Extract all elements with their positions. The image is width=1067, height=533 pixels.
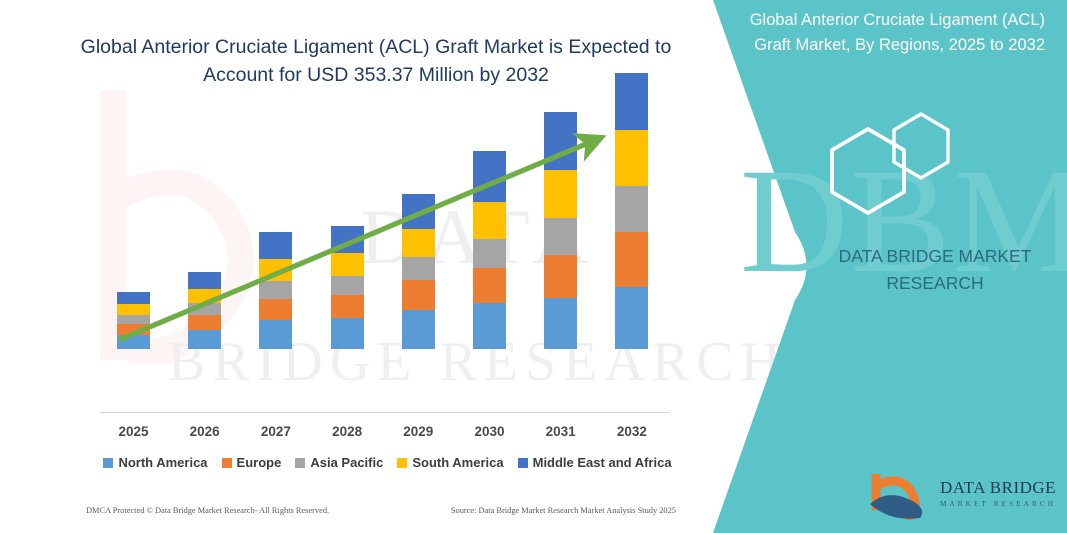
- bar-segment-south-america: [544, 170, 577, 218]
- bar-2031: [544, 112, 577, 349]
- panel-brand: DATA BRIDGE MARKET RESEARCH: [790, 243, 1067, 297]
- bar-segment-middle-east-and-africa: [259, 232, 292, 259]
- x-label-2027: 2027: [241, 424, 311, 439]
- footer-copyright: DMCA Protected © Data Bridge Market Rese…: [86, 506, 329, 515]
- bar-segment-north-america: [402, 310, 435, 349]
- bar-segment-south-america: [331, 253, 364, 276]
- bar-segment-europe: [473, 268, 506, 303]
- bar-segment-south-america: [473, 202, 506, 239]
- page-title: Global Anterior Cruciate Ligament (ACL) …: [76, 33, 676, 89]
- legend-swatch-icon: [222, 458, 232, 468]
- bar-2027: [259, 232, 292, 349]
- bar-segment-north-america: [117, 335, 150, 349]
- logo-name: DATA BRIDGE: [940, 478, 1056, 498]
- bar-segment-middle-east-and-africa: [544, 112, 577, 170]
- legend-label: Asia Pacific: [310, 455, 383, 470]
- x-label-2025: 2025: [99, 424, 169, 439]
- bar-segment-europe: [615, 232, 648, 287]
- bar-2026: [188, 272, 221, 349]
- bar-segment-middle-east-and-africa: [188, 272, 221, 289]
- footer-source: Source: Data Bridge Market Research Mark…: [451, 506, 676, 515]
- legend-swatch-icon: [397, 458, 407, 468]
- bar-2028: [331, 226, 364, 349]
- hexagon-pair-icon: [820, 108, 1010, 218]
- legend-item-north-america[interactable]: North America: [103, 455, 207, 470]
- bar-segment-asia-pacific: [402, 257, 435, 280]
- bar-segment-europe: [402, 280, 435, 310]
- bar-2025: [117, 292, 150, 349]
- bar-segment-middle-east-and-africa: [331, 226, 364, 253]
- panel-title: Global Anterior Cruciate Ligament (ACL) …: [735, 8, 1045, 58]
- bar-segment-europe: [259, 299, 292, 320]
- legend-label: South America: [412, 455, 503, 470]
- bar-segment-asia-pacific: [615, 186, 648, 232]
- legend-swatch-icon: [518, 458, 528, 468]
- bar-segment-europe: [117, 324, 150, 335]
- infographic-canvas: DATA BRIDGE RESEARCH Global Anterior Cru…: [0, 0, 1067, 533]
- x-label-2030: 2030: [455, 424, 525, 439]
- bar-segment-south-america: [117, 304, 150, 315]
- legend-label: Middle East and Africa: [533, 455, 672, 470]
- logo-tagline: MARKET RESEARCH: [940, 500, 1056, 508]
- bar-segment-asia-pacific: [259, 281, 292, 299]
- legend-swatch-icon: [295, 458, 305, 468]
- panel-brand-line2: RESEARCH: [790, 270, 1067, 297]
- x-label-2031: 2031: [526, 424, 596, 439]
- bar-segment-north-america: [259, 320, 292, 349]
- panel-brand-line1: DATA BRIDGE MARKET: [790, 243, 1067, 270]
- bar-segment-north-america: [331, 318, 364, 349]
- bar-segment-north-america: [188, 330, 221, 349]
- x-label-2026: 2026: [170, 424, 240, 439]
- x-label-2028: 2028: [312, 424, 382, 439]
- bar-segment-europe: [544, 255, 577, 298]
- legend-item-south-america[interactable]: South America: [397, 455, 503, 470]
- bar-segment-europe: [331, 295, 364, 318]
- chart-legend: North AmericaEuropeAsia PacificSouth Ame…: [100, 455, 675, 470]
- bar-segment-asia-pacific: [117, 315, 150, 324]
- bar-2029: [402, 194, 435, 349]
- legend-label: North America: [118, 455, 207, 470]
- bar-segment-asia-pacific: [331, 276, 364, 295]
- legend-item-europe[interactable]: Europe: [222, 455, 282, 470]
- x-axis-line: [100, 412, 670, 413]
- bar-2030: [473, 151, 506, 349]
- bar-segment-north-america: [615, 287, 648, 349]
- bar-segment-asia-pacific: [473, 239, 506, 268]
- bar-segment-middle-east-and-africa: [473, 151, 506, 202]
- bar-segment-north-america: [544, 298, 577, 349]
- bar-segment-middle-east-and-africa: [402, 194, 435, 229]
- legend-label: Europe: [237, 455, 282, 470]
- bar-segment-europe: [188, 315, 221, 330]
- bar-segment-asia-pacific: [544, 218, 577, 255]
- legend-swatch-icon: [103, 458, 113, 468]
- x-label-2032: 2032: [597, 424, 667, 439]
- bar-segment-north-america: [473, 303, 506, 349]
- bar-segment-asia-pacific: [188, 303, 221, 315]
- x-label-2029: 2029: [383, 424, 453, 439]
- bar-segment-south-america: [188, 289, 221, 303]
- bar-2032: [615, 73, 648, 349]
- bar-segment-south-america: [615, 130, 648, 186]
- bar-segment-south-america: [402, 229, 435, 257]
- legend-item-middle-east-and-africa[interactable]: Middle East and Africa: [518, 455, 672, 470]
- bar-segment-middle-east-and-africa: [117, 292, 150, 304]
- footer: DMCA Protected © Data Bridge Market Rese…: [86, 506, 676, 515]
- bar-segment-south-america: [259, 259, 292, 281]
- legend-item-asia-pacific[interactable]: Asia Pacific: [295, 455, 383, 470]
